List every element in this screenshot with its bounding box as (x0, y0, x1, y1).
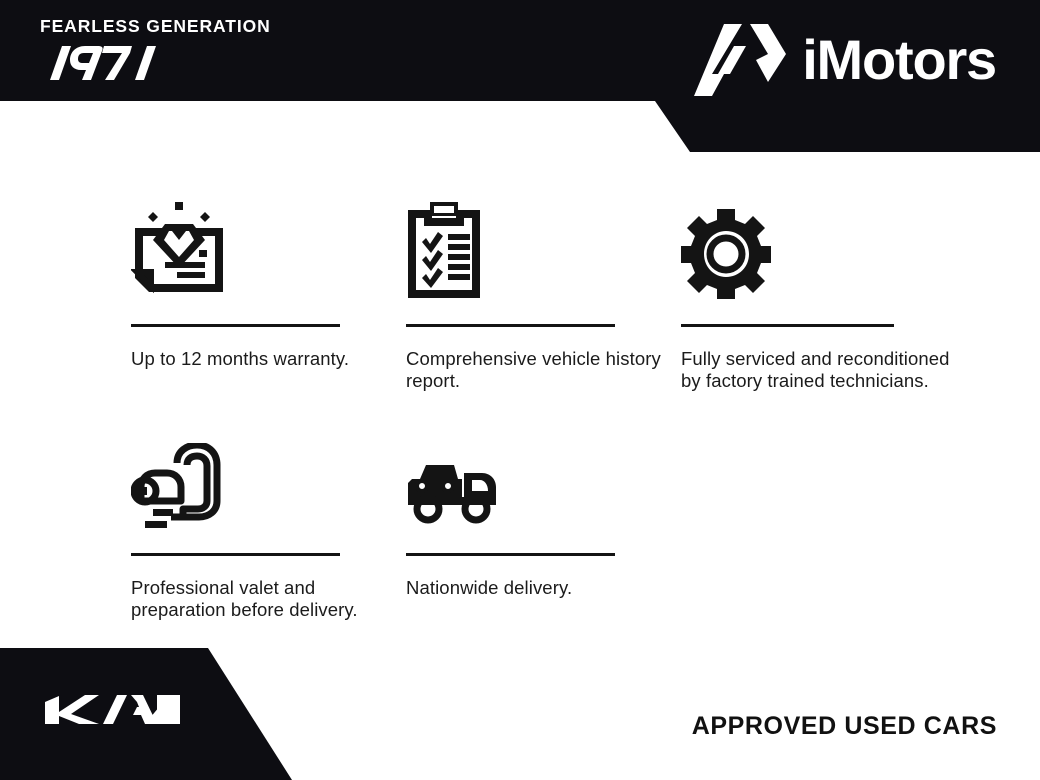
feature-valet: Professional valet and preparation befor… (131, 423, 415, 620)
header-tagline: FEARLESS GENERATION (40, 18, 271, 36)
kia-logo (45, 690, 180, 730)
feature-label: Up to 12 months warranty. (131, 348, 415, 370)
feature-delivery: Nationwide delivery. (406, 423, 690, 620)
gear-cog-icon (681, 190, 965, 300)
feature-divider (406, 324, 615, 327)
feature-divider (681, 324, 894, 327)
vacuum-cleaner-icon (131, 423, 415, 533)
feature-empty-slot (681, 423, 965, 620)
imotors-brand: iMotors (694, 24, 996, 96)
features-row-2: Professional valet and preparation befor… (0, 391, 1040, 620)
feature-label: Professional valet and preparation befor… (131, 577, 415, 620)
car-transporter-truck-icon (406, 423, 690, 533)
footer-tagline: APPROVED USED CARS (692, 714, 997, 739)
year-1971-logo (40, 42, 160, 82)
features-row-1: Up to 12 months warranty. (0, 152, 1040, 391)
feature-history-report: Comprehensive vehicle history report. (406, 190, 690, 391)
clipboard-checklist-icon (406, 190, 690, 300)
fearless-generation-brand: FEARLESS GENERATION (40, 18, 271, 87)
features-section: Up to 12 months warranty. (0, 152, 1040, 620)
feature-label: Comprehensive vehicle history report. (406, 348, 690, 391)
feature-divider (406, 553, 615, 556)
feature-label: Fully serviced and reconditioned by fact… (681, 348, 965, 391)
feature-label: Nationwide delivery. (406, 577, 690, 599)
promotional-banner: FEARLESS GENERATION (0, 0, 1040, 780)
warranty-certificate-icon (131, 190, 415, 300)
feature-warranty: Up to 12 months warranty. (131, 190, 415, 391)
feature-divider (131, 324, 340, 327)
feature-divider (131, 553, 340, 556)
imotors-wordmark: iMotors (802, 32, 996, 88)
header-bar: FEARLESS GENERATION (0, 0, 1040, 152)
feature-serviced: Fully serviced and reconditioned by fact… (681, 190, 965, 391)
imotors-chevron-icon (694, 24, 786, 96)
